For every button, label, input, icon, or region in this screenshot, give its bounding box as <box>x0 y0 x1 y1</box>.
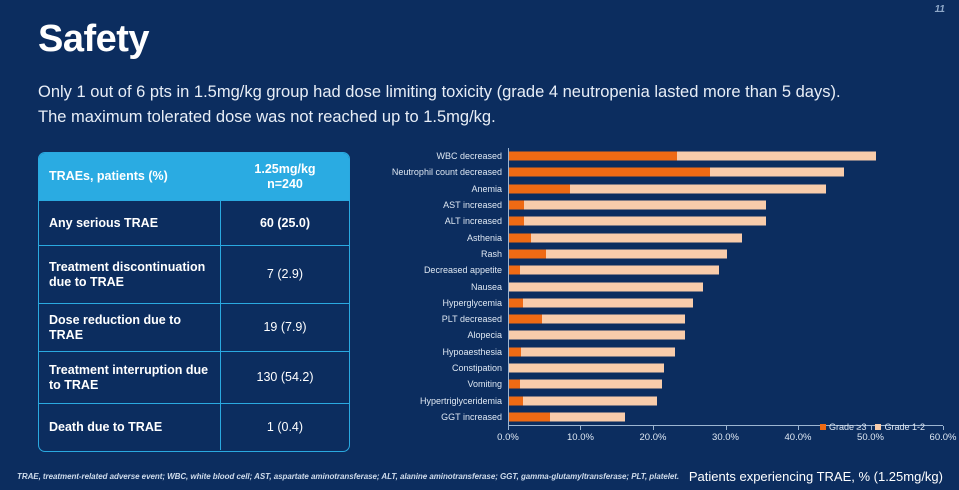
table-header-col2-dose: 1.25mg/kg <box>254 162 315 177</box>
table-cell-label: Death due to TRAE <box>39 404 221 450</box>
chart-segment-grade12[interactable] <box>524 201 766 210</box>
trae-summary-table: TRAEs, patients (%) 1.25mg/kg n=240 Any … <box>38 152 350 452</box>
chart-segment-grade3[interactable] <box>509 266 520 275</box>
chart-stacked-bar[interactable] <box>509 364 664 373</box>
chart-segment-grade3[interactable] <box>509 298 523 307</box>
chart-bar-row: Hypoaesthesia <box>368 344 943 360</box>
chart-bar-row: PLT decreased <box>368 311 943 327</box>
chart-segment-grade12[interactable] <box>677 152 876 161</box>
table-cell-label: Treatment discontinuation due to TRAE <box>39 246 221 303</box>
chart-stacked-bar[interactable] <box>509 152 876 161</box>
legend-swatch-icon <box>875 424 881 430</box>
chart-x-tick <box>508 426 509 430</box>
chart-segment-grade3[interactable] <box>509 152 677 161</box>
chart-bar-track <box>508 376 943 392</box>
chart-category-label: Hypoaesthesia <box>368 347 508 357</box>
chart-bar-track <box>508 148 943 164</box>
chart-x-tick-label: 10.0% <box>567 432 594 443</box>
chart-x-tick <box>653 426 654 430</box>
chart-stacked-bar[interactable] <box>509 331 685 340</box>
chart-segment-grade12[interactable] <box>570 184 825 193</box>
legend-label: Grade ≥3 <box>829 422 866 432</box>
chart-bar-track <box>508 213 943 229</box>
chart-segment-grade12[interactable] <box>542 315 684 324</box>
chart-stacked-bar[interactable] <box>509 233 742 242</box>
chart-bar-row: Hypertriglyceridemia <box>368 392 943 408</box>
chart-segment-grade12[interactable] <box>546 249 728 258</box>
chart-bar-track <box>508 392 943 408</box>
chart-x-tick <box>798 426 799 430</box>
chart-bar-track <box>508 229 943 245</box>
chart-x-tick-label: 20.0% <box>640 432 667 443</box>
chart-bar-row: Hyperglycemia <box>368 295 943 311</box>
chart-segment-grade12[interactable] <box>521 347 675 356</box>
chart-bar-row: Vomiting <box>368 376 943 392</box>
chart-stacked-bar[interactable] <box>509 217 766 226</box>
chart-category-label: Nausea <box>368 282 508 292</box>
chart-segment-grade3[interactable] <box>509 347 521 356</box>
chart-segment-grade3[interactable] <box>509 201 524 210</box>
table-cell-value: 1 (0.4) <box>221 404 349 450</box>
chart-x-tick-label: 50.0% <box>857 432 884 443</box>
chart-axis-title: Patients experiencing TRAE, % (1.25mg/kg… <box>689 469 943 484</box>
table-row: Treatment discontinuation due to TRAE 7 … <box>39 246 349 304</box>
legend-item-grade3: Grade ≥3 <box>820 422 866 432</box>
chart-segment-grade12[interactable] <box>509 282 703 291</box>
slide: 11 Safety Only 1 out of 6 pts in 1.5mg/k… <box>0 0 959 490</box>
chart-segment-grade3[interactable] <box>509 249 546 258</box>
chart-category-label: Vomiting <box>368 379 508 389</box>
chart-bar-track <box>508 278 943 294</box>
chart-x-tick <box>726 426 727 430</box>
chart-bar-track <box>508 327 943 343</box>
chart-bar-track <box>508 181 943 197</box>
chart-x-tick-label: 30.0% <box>712 432 739 443</box>
chart-stacked-bar[interactable] <box>509 315 685 324</box>
chart-stacked-bar[interactable] <box>509 266 719 275</box>
table-header-row: TRAEs, patients (%) 1.25mg/kg n=240 <box>39 153 349 201</box>
page-title: Safety <box>38 18 149 61</box>
table-row: Treatment interruption due to TRAE 130 (… <box>39 352 349 404</box>
chart-segment-grade12[interactable] <box>710 168 844 177</box>
chart-bar-row: Anemia <box>368 181 943 197</box>
chart-bar-row: ALT increased <box>368 213 943 229</box>
chart-bar-row: Alopecia <box>368 327 943 343</box>
table-cell-value: 60 (25.0) <box>221 201 349 245</box>
chart-bar-track <box>508 246 943 262</box>
chart-segment-grade3[interactable] <box>509 380 520 389</box>
table-cell-value: 7 (2.9) <box>221 246 349 303</box>
table-cell-value: 19 (7.9) <box>221 304 349 351</box>
chart-stacked-bar[interactable] <box>509 249 727 258</box>
table-row: Dose reduction due to TRAE 19 (7.9) <box>39 304 349 352</box>
chart-segment-grade12[interactable] <box>523 396 657 405</box>
chart-bar-track <box>508 344 943 360</box>
chart-bar-row: Nausea <box>368 278 943 294</box>
chart-category-label: Anemia <box>368 184 508 194</box>
chart-bar-track <box>508 197 943 213</box>
chart-segment-grade12[interactable] <box>520 266 719 275</box>
chart-x-tick-label: 40.0% <box>785 432 812 443</box>
chart-bar-row: Decreased appetite <box>368 262 943 278</box>
chart-segment-grade3[interactable] <box>509 412 550 421</box>
chart-legend: Grade ≥3 Grade 1-2 <box>820 422 925 432</box>
table-header-col1: TRAEs, patients (%) <box>39 153 221 200</box>
chart-stacked-bar[interactable] <box>509 380 662 389</box>
chart-category-label: Hypertriglyceridemia <box>368 396 508 406</box>
chart-category-label: WBC decreased <box>368 151 508 161</box>
table-cell-value: 130 (54.2) <box>221 352 349 403</box>
legend-swatch-icon <box>820 424 826 430</box>
chart-bar-track <box>508 360 943 376</box>
chart-category-label: ALT increased <box>368 216 508 226</box>
chart-bar-track <box>508 295 943 311</box>
chart-bar-row: Constipation <box>368 360 943 376</box>
chart-category-label: Alopecia <box>368 330 508 340</box>
subtitle-line-2: The maximum tolerated dose was not reach… <box>38 105 928 130</box>
chart-segment-grade3[interactable] <box>509 217 524 226</box>
chart-bar-row: WBC decreased <box>368 148 943 164</box>
subtitle: Only 1 out of 6 pts in 1.5mg/kg group ha… <box>38 80 928 130</box>
chart-stacked-bar[interactable] <box>509 298 693 307</box>
chart-category-label: Rash <box>368 249 508 259</box>
chart-stacked-bar[interactable] <box>509 396 657 405</box>
table-header-col2-n: n=240 <box>254 177 315 192</box>
chart-segment-grade12[interactable] <box>509 331 685 340</box>
chart-plot-area: WBC decreasedNeutrophil count decreasedA… <box>368 148 943 425</box>
chart-x-axis-labels: 0.0%10.0%20.0%30.0%40.0%50.0%60.0% <box>508 431 943 445</box>
subtitle-line-1: Only 1 out of 6 pts in 1.5mg/kg group ha… <box>38 80 928 105</box>
chart-category-label: Decreased appetite <box>368 265 508 275</box>
chart-stacked-bar[interactable] <box>509 168 844 177</box>
chart-segment-grade12[interactable] <box>509 364 664 373</box>
table-row: Any serious TRAE 60 (25.0) <box>39 201 349 246</box>
chart-x-tick-label: 0.0% <box>497 432 519 443</box>
chart-stacked-bar[interactable] <box>509 347 675 356</box>
chart-category-label: PLT decreased <box>368 314 508 324</box>
chart-bar-track <box>508 164 943 180</box>
chart-segment-grade12[interactable] <box>550 412 625 421</box>
chart-segment-grade3[interactable] <box>509 168 710 177</box>
chart-bar-row: AST increased <box>368 197 943 213</box>
page-number: 11 <box>935 4 945 15</box>
chart-segment-grade12[interactable] <box>520 380 662 389</box>
chart-bar-row: Neutrophil count decreased <box>368 164 943 180</box>
trae-bar-chart: WBC decreasedNeutrophil count decreasedA… <box>368 148 943 448</box>
chart-category-label: Constipation <box>368 363 508 373</box>
chart-category-label: Asthenia <box>368 233 508 243</box>
chart-stacked-bar[interactable] <box>509 282 703 291</box>
chart-segment-grade3[interactable] <box>509 315 542 324</box>
chart-stacked-bar[interactable] <box>509 184 826 193</box>
chart-bar-row: Rash <box>368 246 943 262</box>
chart-x-tick <box>943 426 944 430</box>
chart-category-label: Hyperglycemia <box>368 298 508 308</box>
table-cell-label: Any serious TRAE <box>39 201 221 245</box>
chart-bar-track <box>508 311 943 327</box>
table-cell-label: Dose reduction due to TRAE <box>39 304 221 351</box>
chart-category-label: GGT increased <box>368 412 508 422</box>
chart-segment-grade3[interactable] <box>509 233 531 242</box>
chart-segment-grade12[interactable] <box>524 217 766 226</box>
chart-stacked-bar[interactable] <box>509 201 766 210</box>
table-row: Death due to TRAE 1 (0.4) <box>39 404 349 450</box>
chart-segment-grade3[interactable] <box>509 396 523 405</box>
chart-category-label: Neutrophil count decreased <box>368 167 508 177</box>
legend-label: Grade 1-2 <box>884 422 925 432</box>
table-cell-label: Treatment interruption due to TRAE <box>39 352 221 403</box>
footnote: TRAE, treatment-related adverse event; W… <box>17 472 679 481</box>
chart-bar-row: Asthenia <box>368 229 943 245</box>
table-header-col2: 1.25mg/kg n=240 <box>221 153 349 200</box>
chart-segment-grade12[interactable] <box>523 298 693 307</box>
chart-segment-grade3[interactable] <box>509 184 570 193</box>
chart-category-label: AST increased <box>368 200 508 210</box>
chart-x-tick-label: 60.0% <box>930 432 957 443</box>
chart-x-tick <box>580 426 581 430</box>
legend-item-grade12: Grade 1-2 <box>875 422 925 432</box>
chart-stacked-bar[interactable] <box>509 412 625 421</box>
chart-bar-track <box>508 262 943 278</box>
chart-segment-grade12[interactable] <box>531 233 741 242</box>
